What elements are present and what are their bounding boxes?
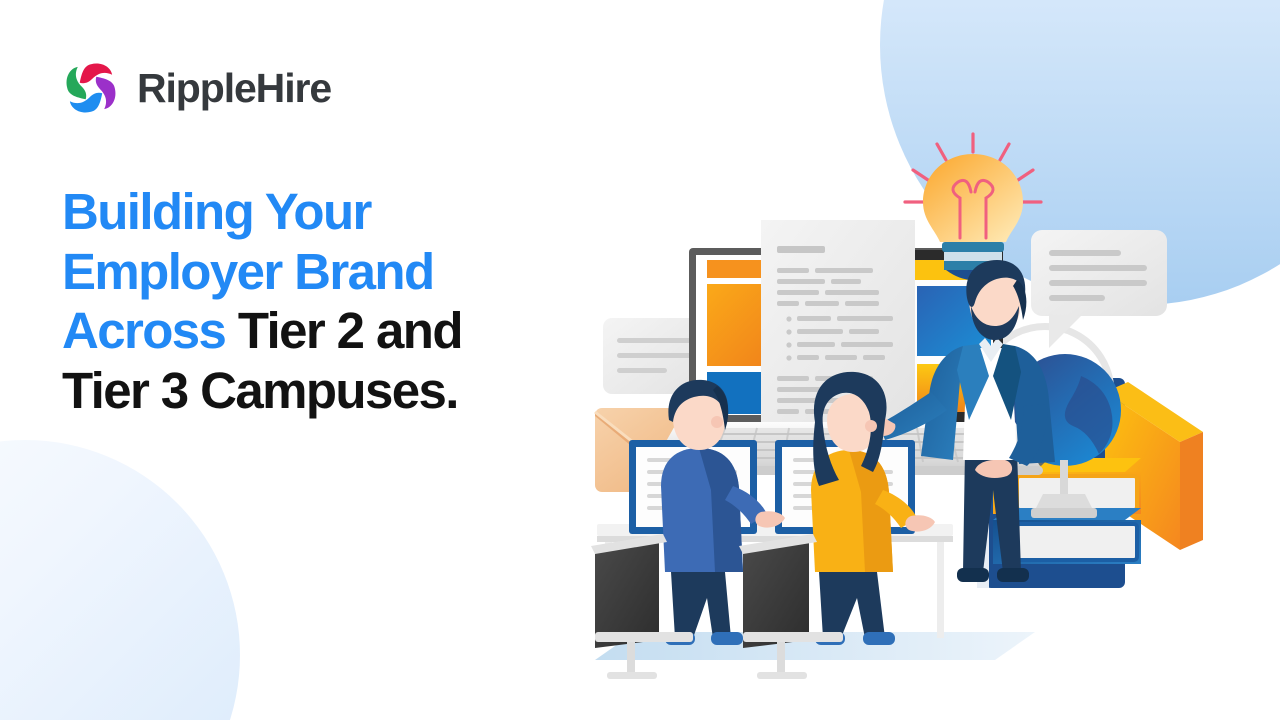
- headline-line-3-dark: Tier 2 and: [225, 302, 462, 359]
- headline-line-4: Tier 3 Campuses.: [62, 362, 458, 419]
- brand-logo[interactable]: RippleHire: [58, 55, 331, 121]
- brand-wordmark: RippleHire: [137, 68, 331, 109]
- ripple-pinwheel-logo-icon: [58, 55, 124, 121]
- slide-canvas: RippleHire Building Your Employer Brand …: [0, 0, 1280, 720]
- campus-hiring-illustration: [565, 120, 1255, 690]
- headline-accent-across: Across: [62, 302, 225, 359]
- decorative-blob-bottom-left: [0, 440, 240, 720]
- headline-line-2: Employer Brand: [62, 243, 434, 300]
- speech-bubble: [1031, 230, 1167, 348]
- headline-line-1: Building Your: [62, 183, 371, 240]
- page-title: Building Your Employer Brand Across Tier…: [62, 182, 622, 421]
